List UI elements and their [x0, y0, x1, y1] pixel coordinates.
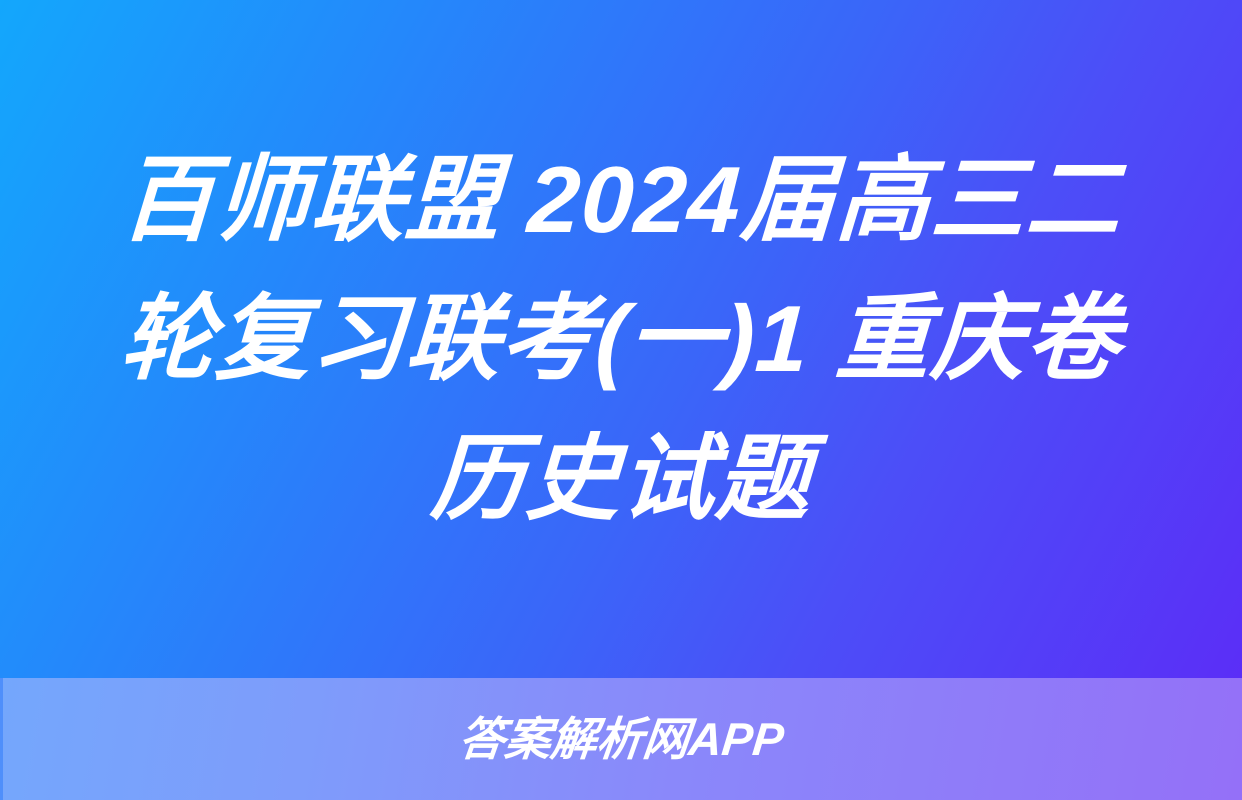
title-line-3: 历史试题 — [62, 409, 1179, 548]
title-block: 百师联盟 2024届高三二 轮复习联考(一)1 重庆卷 历史试题 — [66, 130, 1176, 547]
exam-paper-cover-poster: 百师联盟 2024届高三二 轮复习联考(一)1 重庆卷 历史试题 答案解析网AP… — [0, 0, 1242, 800]
title-line-1: 百师联盟 2024届高三二 — [62, 130, 1179, 269]
title-banner: 百师联盟 2024届高三二 轮复习联考(一)1 重庆卷 历史试题 — [0, 0, 1242, 678]
title-line-2: 轮复习联考(一)1 重庆卷 — [62, 269, 1179, 408]
app-watermark-label: 答案解析网APP — [456, 716, 785, 762]
footer-watermark-strip: 答案解析网APP — [0, 678, 1242, 800]
